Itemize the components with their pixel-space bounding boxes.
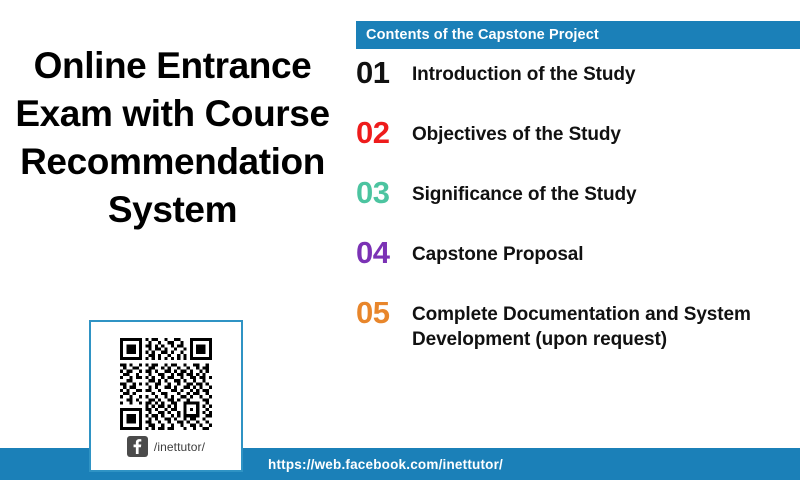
facebook-f-icon [127, 436, 148, 457]
list-item[interactable]: 03 Significance of the Study [356, 176, 800, 218]
right-panel: Contents of the Capstone Project 01 Intr… [356, 0, 800, 480]
item-label: Significance of the Study [412, 176, 800, 207]
item-number: 03 [356, 176, 412, 208]
contents-header-label: Contents of the Capstone Project [356, 27, 599, 43]
list-item[interactable]: 04 Capstone Proposal [356, 236, 800, 278]
item-label: Capstone Proposal [412, 236, 800, 267]
item-label: Complete Documentation and System Develo… [412, 296, 800, 353]
contents-header-bar: Contents of the Capstone Project [356, 21, 800, 49]
footer-url-label[interactable]: https://web.facebook.com/inettutor/ [268, 448, 503, 480]
facebook-handle-label: /inettutor/ [154, 440, 205, 454]
facebook-handle-row[interactable]: /inettutor/ [91, 436, 241, 457]
item-number: 04 [356, 236, 412, 268]
qr-code[interactable] [120, 338, 212, 430]
list-item[interactable]: 05 Complete Documentation and System Dev… [356, 296, 800, 353]
list-item[interactable]: 01 Introduction of the Study [356, 56, 800, 98]
page-title: Online Entrance Exam with Course Recomme… [2, 42, 343, 234]
qr-code-card: /inettutor/ [89, 320, 243, 472]
left-panel: Online Entrance Exam with Course Recomme… [0, 0, 345, 480]
item-number: 01 [356, 56, 412, 88]
item-label: Introduction of the Study [412, 56, 800, 87]
item-label: Objectives of the Study [412, 116, 800, 147]
presentation-slide: Online Entrance Exam with Course Recomme… [0, 0, 800, 480]
item-number: 05 [356, 296, 412, 328]
list-item[interactable]: 02 Objectives of the Study [356, 116, 800, 158]
contents-list: 01 Introduction of the Study 02 Objectiv… [356, 56, 800, 371]
item-number: 02 [356, 116, 412, 148]
